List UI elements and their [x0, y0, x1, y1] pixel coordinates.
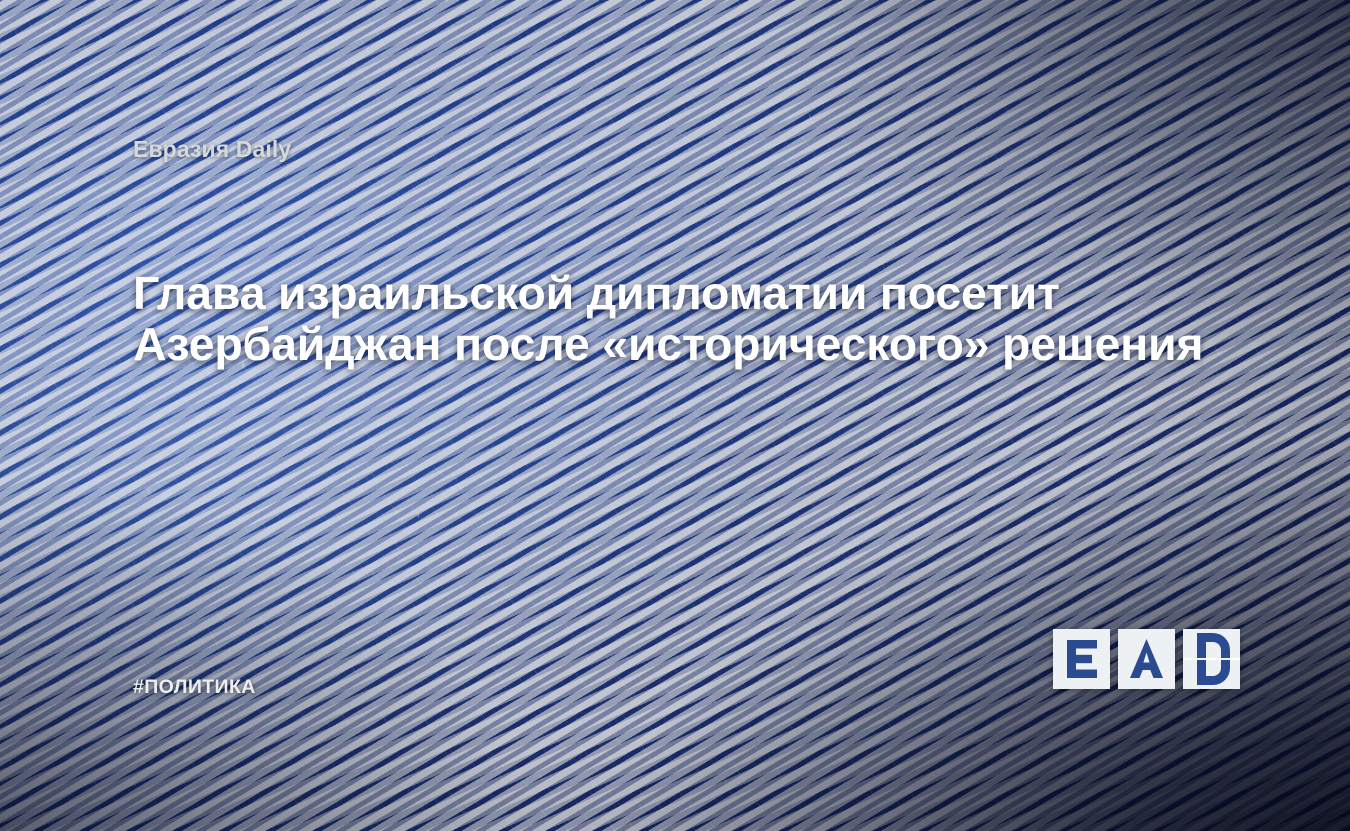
news-card: Евразия Daily Глава израильской дипломат…: [0, 0, 1350, 831]
headline: Глава израильской дипломатии посетит Азе…: [133, 268, 1243, 370]
eadaily-logo[interactable]: [1053, 629, 1240, 689]
logo-d-upper: [1183, 629, 1240, 659]
card-content: Евразия Daily Глава израильской дипломат…: [0, 0, 1350, 831]
category-hashtag[interactable]: #ПОЛИТИКА: [133, 676, 256, 699]
logo-d-lower: [1183, 659, 1240, 689]
logo-tile-a: [1118, 629, 1175, 689]
logo-tile-d: [1183, 629, 1240, 689]
brand-label: Евразия Daily: [133, 136, 291, 163]
logo-tile-e: [1053, 629, 1110, 689]
logo-d-divider: [1183, 658, 1240, 660]
